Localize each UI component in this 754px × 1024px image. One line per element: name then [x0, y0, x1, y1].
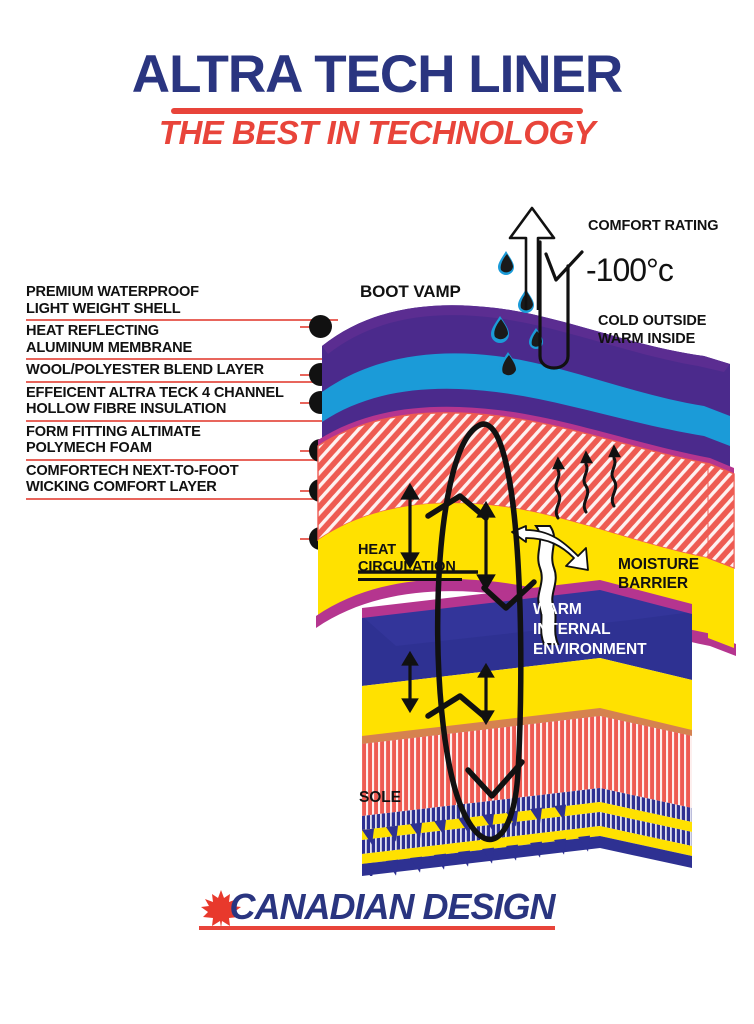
callout-rule [26, 319, 338, 321]
callout-rule [26, 498, 338, 500]
callout-rule [26, 420, 338, 422]
callout-label: FORM FITTING ALTIMATE POLYMECH FOAM [26, 424, 338, 457]
callout-rule [26, 459, 338, 461]
callout-rule [26, 381, 338, 383]
annotation-sole: SOLE [359, 789, 401, 807]
annotation-temperature: -100°c [586, 252, 673, 289]
annotation-moisture-barrier: MOISTURE BARRIER [618, 556, 699, 593]
callout-rule [26, 358, 338, 360]
annotation-boot-vamp: BOOT VAMP [360, 282, 461, 302]
list-item: COMFORTECH NEXT-TO-FOOT WICKING COMFORT … [26, 463, 338, 502]
callout-label: COMFORTECH NEXT-TO-FOOT WICKING COMFORT … [26, 463, 338, 496]
callout-label: EFFEICENT ALTRA TECK 4 CHANNEL HOLLOW FI… [26, 385, 338, 418]
callout-label: WOOL/POLYESTER BLEND LAYER [26, 362, 338, 379]
callout-list: PREMIUM WATERPROOF LIGHT WEIGHT SHELL HE… [26, 284, 338, 502]
annotation-cold-outside-warm-inside: COLD OUTSIDE WARM INSIDE [598, 312, 706, 348]
callout-label: HEAT REFLECTING ALUMINUM MEMBRANE [26, 323, 338, 356]
list-item: FORM FITTING ALTIMATE POLYMECH FOAM [26, 424, 338, 463]
list-item: HEAT REFLECTING ALUMINUM MEMBRANE [26, 323, 338, 362]
footer-text: CANADIAN DESIGN [199, 886, 554, 928]
heat-underline [358, 578, 462, 581]
list-item: WOOL/POLYESTER BLEND LAYER [26, 362, 338, 384]
annotation-heat-circulation-label: HEAT CIRCULATION [358, 542, 456, 575]
callout-label: PREMIUM WATERPROOF LIGHT WEIGHT SHELL [26, 284, 338, 317]
list-item: EFFEICENT ALTRA TECK 4 CHANNEL HOLLOW FI… [26, 385, 338, 424]
list-item: PREMIUM WATERPROOF LIGHT WEIGHT SHELL [26, 284, 338, 323]
page-title: ALTRA TECH LINER [0, 48, 754, 102]
annotation-warm-internal-environment: WARM INTERNAL ENVIRONMENT [533, 600, 646, 659]
poster-root: ALTRA TECH LINER THE BEST IN TECHNOLOGY … [0, 0, 754, 1024]
annotation-comfort-rating: COMFORT RATING [588, 218, 718, 234]
page-subtitle: THE BEST IN TECHNOLOGY [0, 116, 754, 151]
poster-header: ALTRA TECH LINER THE BEST IN TECHNOLOGY [0, 48, 754, 151]
annotation-heat-circulation: HEAT CIRCULATION [358, 542, 462, 581]
poster-footer: CANADIAN DESIGN [0, 886, 754, 930]
